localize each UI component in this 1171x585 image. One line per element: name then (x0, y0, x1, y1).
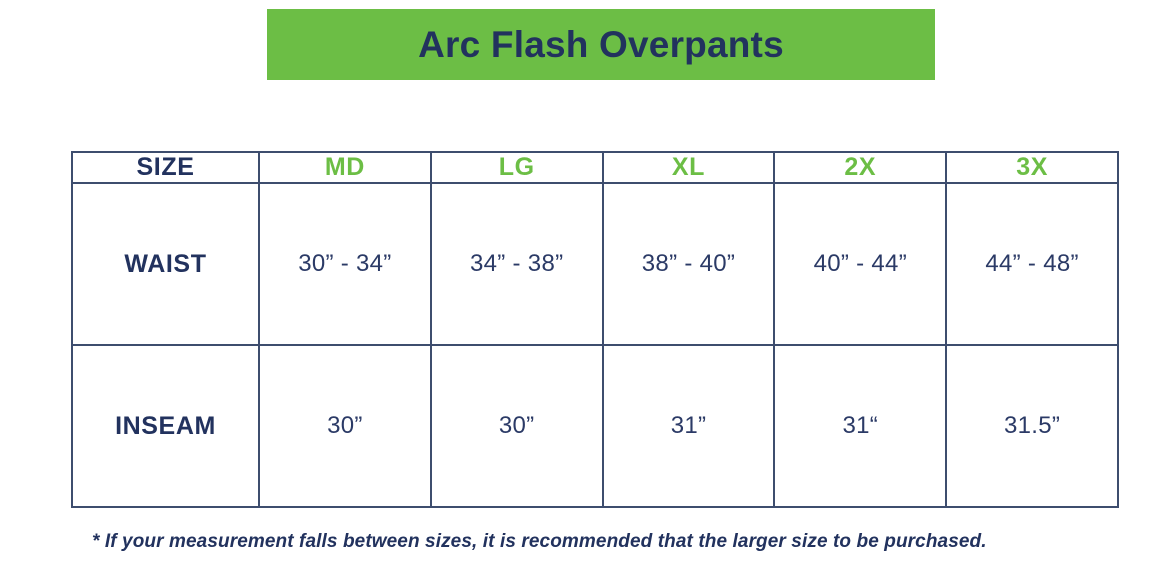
title-banner: Arc Flash Overpants (267, 9, 935, 80)
cell-waist-lg: 34” - 38” (431, 183, 603, 345)
header-cell-3x: 3X (946, 152, 1118, 183)
cell-inseam-2x: 31“ (774, 345, 946, 507)
row-label-inseam: INSEAM (72, 345, 259, 507)
cell-inseam-md: 30” (259, 345, 431, 507)
header-cell-lg: LG (431, 152, 603, 183)
cell-waist-3x: 44” - 48” (946, 183, 1118, 345)
cell-waist-2x: 40” - 44” (774, 183, 946, 345)
header-cell-2x: 2X (774, 152, 946, 183)
cell-waist-xl: 38” - 40” (603, 183, 775, 345)
header-cell-size: SIZE (72, 152, 259, 183)
page-title: Arc Flash Overpants (418, 26, 784, 63)
table-row-waist: WAIST 30” - 34” 34” - 38” 38” - 40” 40” … (72, 183, 1118, 345)
sizing-footnote: * If your measurement falls between size… (92, 531, 1112, 553)
header-cell-md: MD (259, 152, 431, 183)
cell-inseam-lg: 30” (431, 345, 603, 507)
size-chart-table-container: SIZE MD LG XL 2X 3X WAIST 30” - 34” 34” … (71, 151, 1117, 508)
row-label-waist: WAIST (72, 183, 259, 345)
table-row-inseam: INSEAM 30” 30” 31” 31“ 31.5” (72, 345, 1118, 507)
table-header-row: SIZE MD LG XL 2X 3X (72, 152, 1118, 183)
size-chart-table: SIZE MD LG XL 2X 3X WAIST 30” - 34” 34” … (71, 151, 1119, 508)
header-cell-xl: XL (603, 152, 775, 183)
cell-waist-md: 30” - 34” (259, 183, 431, 345)
cell-inseam-3x: 31.5” (946, 345, 1118, 507)
cell-inseam-xl: 31” (603, 345, 775, 507)
